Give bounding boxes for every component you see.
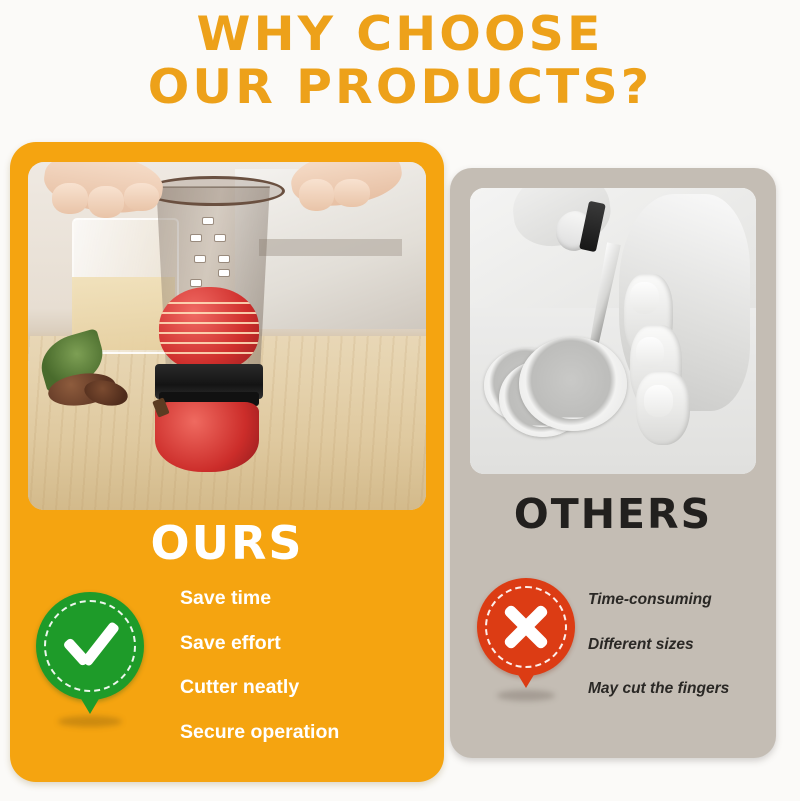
others-heading: OTHERS [450, 490, 776, 538]
badge-drop-shadow [497, 690, 555, 701]
list-item: May cut the fingers [588, 681, 793, 697]
check-icon [36, 592, 144, 700]
others-product-photo [470, 188, 756, 474]
badge-pin-tail [77, 692, 103, 714]
ours-product-photo [28, 162, 426, 510]
others-drawback-list: Time-consuming Different sizes May cut t… [588, 592, 793, 726]
list-item: Save effort [180, 634, 430, 654]
list-item: Different sizes [588, 637, 793, 653]
others-x-badge [477, 578, 575, 676]
ours-heading: OURS [10, 516, 444, 570]
list-item: Time-consuming [588, 592, 793, 608]
page-title-line-2: OUR PRODUCTS? [0, 61, 800, 114]
ours-check-badge [36, 592, 144, 700]
page-title: WHY CHOOSE OUR PRODUCTS? [0, 8, 800, 114]
list-item: Save time [180, 589, 430, 609]
badge-drop-shadow [58, 716, 122, 727]
list-item: Secure operation [180, 723, 430, 743]
x-icon [477, 578, 575, 676]
badge-pin-tail [514, 668, 538, 688]
ours-feature-list: Save time Save effort Cutter neatly Secu… [180, 589, 430, 767]
list-item: Cutter neatly [180, 678, 430, 698]
page-title-line-1: WHY CHOOSE [0, 8, 800, 61]
